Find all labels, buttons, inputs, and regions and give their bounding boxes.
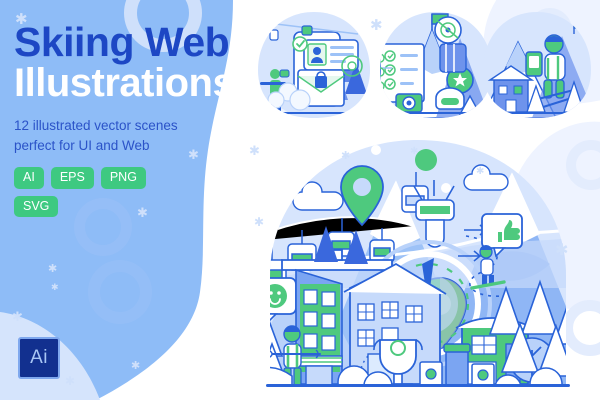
adobe-illustrator-icon: Ai bbox=[18, 337, 60, 379]
poster-subtitle-line-1: 12 illustrated vector scenes bbox=[14, 118, 178, 133]
format-badge-png: PNG bbox=[101, 167, 146, 189]
poster-title-line-2: Illustrations bbox=[14, 64, 230, 103]
poster-subtitle-line-2: perfect for UI and Web bbox=[14, 138, 150, 153]
format-badge-eps: EPS bbox=[51, 167, 94, 189]
poster-canvas: Skiing Web Illustrations 12 illustrated … bbox=[0, 0, 600, 400]
main-illustration-ski-resort-village-panorama bbox=[250, 138, 586, 392]
thumbnail-ski-pass-id-card-scene bbox=[252, 8, 376, 126]
thumbnail-skier-selfie-village-scene bbox=[478, 8, 596, 126]
poster-subtitle: 12 illustrated vector scenes perfect for… bbox=[14, 116, 230, 155]
format-badge-ai: AI bbox=[14, 167, 44, 189]
poster-title-line-1: Skiing Web bbox=[14, 22, 230, 62]
format-badge-group: AI EPS PNG SVG bbox=[14, 167, 182, 217]
format-badge-svg: SVG bbox=[14, 196, 58, 218]
headline-block: Skiing Web Illustrations 12 illustrated … bbox=[14, 22, 230, 217]
